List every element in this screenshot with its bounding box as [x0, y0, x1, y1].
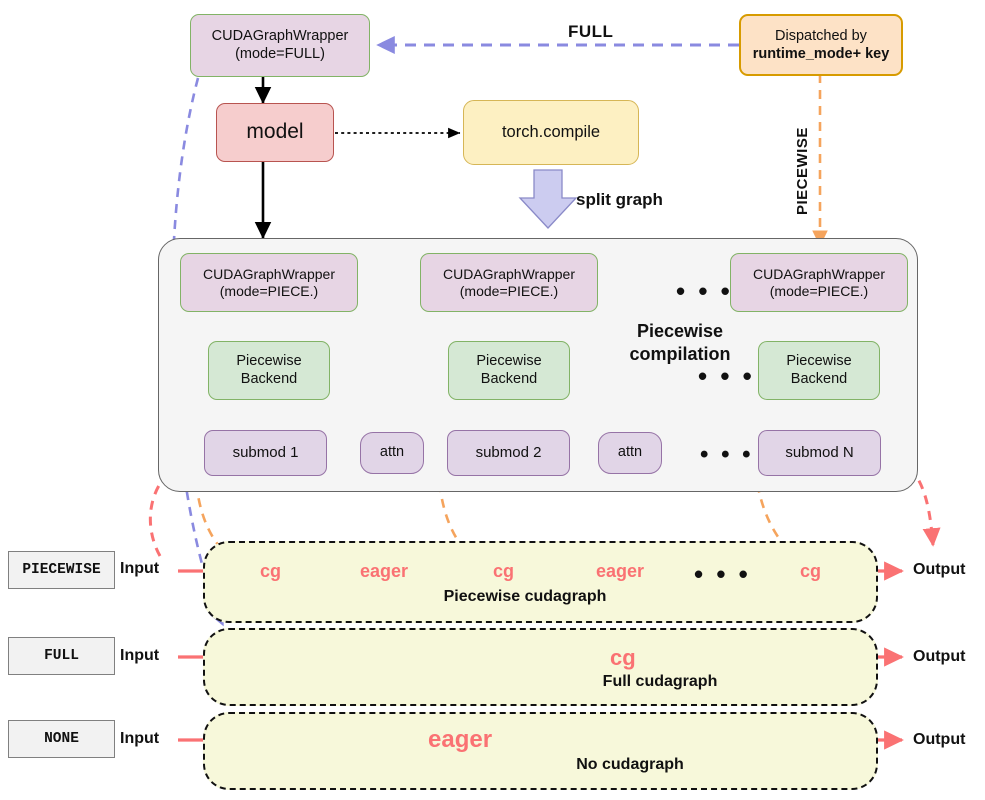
backend-n-line2: Backend: [786, 371, 851, 388]
output-label-piecewise: Output: [913, 561, 965, 579]
backend-n-line1: Piecewise: [786, 353, 851, 370]
backend-2-line1: Piecewise: [476, 353, 541, 370]
edge-label-piecewise: PIECEWISE: [794, 127, 811, 215]
output-label-none: Output: [913, 731, 965, 749]
piecewise-step-3: cg: [493, 561, 514, 582]
output-label-full: Output: [913, 648, 965, 666]
none-step-eager: eager: [428, 726, 492, 754]
backend-1-line1: Piecewise: [236, 353, 301, 370]
backend-1-line2: Backend: [236, 371, 301, 388]
wrapper-piece-2-line2: (mode=PIECE.): [443, 283, 575, 300]
cudagraph-wrapper-piece-2[interactable]: CUDAGraphWrapper (mode=PIECE.): [420, 253, 598, 312]
submod-n-box[interactable]: submod N: [758, 430, 881, 476]
input-label-piecewise: Input: [120, 560, 159, 578]
submod-1-box[interactable]: submod 1: [204, 430, 327, 476]
input-label-none: Input: [120, 730, 159, 748]
dispatch-box[interactable]: Dispatched by runtime_mode+ key: [739, 14, 903, 76]
piecewise-step-4: eager: [596, 561, 644, 582]
dispatch-line1: Dispatched by: [753, 27, 890, 45]
piecewise-backend-1[interactable]: Piecewise Backend: [208, 341, 330, 400]
ellipsis-wrapper-row: • • •: [676, 278, 733, 304]
submod-2-box[interactable]: submod 2: [447, 430, 570, 476]
submod-1-label: submod 1: [233, 444, 299, 462]
lane-name-piecewise: Piecewise cudagraph: [444, 588, 607, 606]
attn-1-box[interactable]: attn: [360, 432, 424, 474]
attn-2-label: attn: [618, 444, 642, 461]
torch-compile-box[interactable]: torch.compile: [463, 100, 639, 165]
wrapper-piece-2-line1: CUDAGraphWrapper: [443, 266, 575, 283]
wrapper-piece-1-line1: CUDAGraphWrapper: [203, 266, 335, 283]
lane-name-none: No cudagraph: [576, 756, 684, 774]
input-label-full: Input: [120, 647, 159, 665]
attn-1-label: attn: [380, 444, 404, 461]
piecewise-title-line1: Piecewise: [590, 320, 770, 343]
full-step-cg: cg: [610, 645, 636, 671]
wrapper-full-line1: CUDAGraphWrapper: [212, 28, 349, 45]
wrapper-piece-1-line2: (mode=PIECE.): [203, 283, 335, 300]
split-graph-arrow: [520, 170, 576, 228]
diagram-canvas: Piecewise compilation • • • • • • • • • …: [0, 0, 985, 800]
lane-full: [203, 628, 878, 706]
piecewise-backend-2[interactable]: Piecewise Backend: [448, 341, 570, 400]
backend-2-line2: Backend: [476, 371, 541, 388]
piecewise-step-ellipsis: • • •: [694, 561, 751, 587]
mode-chip-piecewise[interactable]: PIECEWISE: [8, 551, 115, 589]
model-label: model: [246, 120, 303, 145]
piecewise-step-1: cg: [260, 561, 281, 582]
cudagraph-wrapper-piece-1[interactable]: CUDAGraphWrapper (mode=PIECE.): [180, 253, 358, 312]
piecewise-backend-n[interactable]: Piecewise Backend: [758, 341, 880, 400]
piecewise-step-2: eager: [360, 561, 408, 582]
dispatch-line2: runtime_mode+ key: [753, 45, 890, 63]
lane-name-full: Full cudagraph: [603, 673, 718, 691]
split-graph-label: split graph: [576, 190, 663, 210]
mode-chip-piecewise-label: PIECEWISE: [22, 562, 100, 578]
mode-chip-full[interactable]: FULL: [8, 637, 115, 675]
cudagraph-wrapper-piece-n[interactable]: CUDAGraphWrapper (mode=PIECE.): [730, 253, 908, 312]
wrapper-full-line2: (mode=FULL): [212, 46, 349, 63]
lane-piecewise: [203, 541, 878, 623]
edge-label-full: FULL: [568, 22, 613, 42]
ellipsis-submod-row: • • •: [700, 443, 754, 467]
attn-2-box[interactable]: attn: [598, 432, 662, 474]
ellipsis-backend-row: • • •: [698, 363, 755, 389]
model-box[interactable]: model: [216, 103, 334, 162]
submod-2-label: submod 2: [476, 444, 542, 462]
cudagraph-wrapper-full-box[interactable]: CUDAGraphWrapper (mode=FULL): [190, 14, 370, 77]
wrapper-piece-n-line2: (mode=PIECE.): [753, 283, 885, 300]
mode-chip-none[interactable]: NONE: [8, 720, 115, 758]
piecewise-compilation-title: Piecewise compilation: [590, 320, 770, 365]
mode-chip-none-label: NONE: [44, 731, 79, 747]
torch-compile-label: torch.compile: [502, 123, 600, 142]
mode-chip-full-label: FULL: [44, 648, 79, 664]
wrapper-piece-n-line1: CUDAGraphWrapper: [753, 266, 885, 283]
piecewise-step-5: cg: [800, 561, 821, 582]
submod-n-label: submod N: [785, 444, 853, 462]
lane-none: [203, 712, 878, 790]
